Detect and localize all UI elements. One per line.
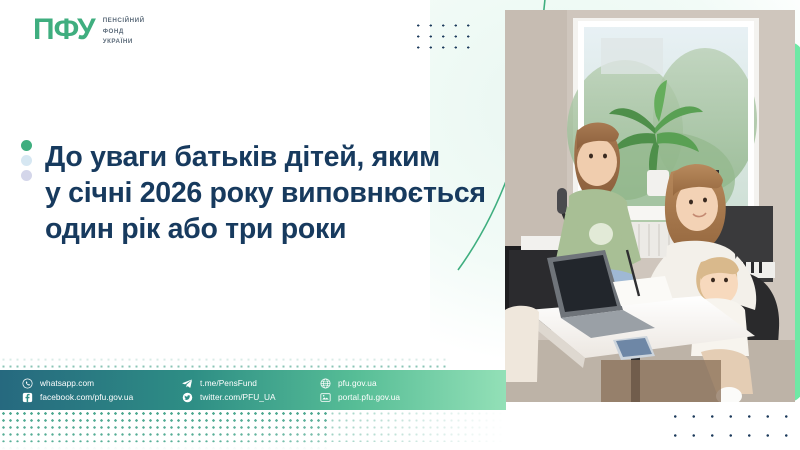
logo-tagline-line-2: ФОНД (103, 27, 145, 37)
footer-link-website[interactable]: pfu.gov.ua (320, 378, 440, 389)
halftone-texture-top (0, 356, 450, 371)
photo-family-at-desk (505, 10, 795, 402)
poster-canvas: ПФУ ПЕНСІЙНИЙ ФОНД УКРАЇНИ До уваги бать… (0, 0, 800, 450)
logo-tagline: ПЕНСІЙНИЙ ФОНД УКРАЇНИ (103, 14, 145, 47)
footer-link-label: pfu.gov.ua (338, 378, 377, 388)
accent-dot-blue (21, 155, 32, 166)
twitter-icon (182, 392, 193, 403)
footer-link-label: whatsapp.com (40, 378, 94, 388)
footer-link-label: twitter.com/PFU_UA (200, 392, 276, 402)
footer-link-label: facebook.com/pfu.gov.ua (40, 392, 133, 402)
telegram-icon (182, 378, 193, 389)
footer-link-label: t.me/PensFund (200, 378, 257, 388)
footer-column-2: t.me/PensFund twitter.com/PFU_UA (182, 378, 312, 403)
pfu-logo[interactable]: ПФУ ПЕНСІЙНИЙ ФОНД УКРАЇНИ (33, 14, 145, 47)
headline-accent-dots (21, 140, 32, 181)
footer-link-twitter[interactable]: twitter.com/PFU_UA (182, 392, 312, 403)
headline-line-1: До уваги батьків дітей, яким (45, 140, 495, 176)
footer-link-portal[interactable]: portal.pfu.gov.ua (320, 392, 440, 403)
accent-dot-green (21, 140, 32, 151)
footer-link-whatsapp[interactable]: whatsapp.com (22, 378, 172, 389)
logo-mark: ПФУ (33, 15, 95, 45)
headline: До уваги батьків дітей, яким у січні 202… (45, 140, 495, 248)
globe-icon (320, 378, 331, 389)
footer-link-telegram[interactable]: t.me/PensFund (182, 378, 312, 389)
footer-link-label: portal.pfu.gov.ua (338, 392, 400, 402)
logo-tagline-line-1: ПЕНСІЙНИЙ (103, 16, 145, 26)
dot-grid-top (412, 20, 472, 50)
whatsapp-icon (22, 378, 33, 389)
headline-line-2: у січні 2026 року виповнюється (45, 176, 495, 212)
facebook-icon (22, 392, 33, 403)
footer-column-3: pfu.gov.ua portal.pfu.gov.ua (320, 378, 440, 403)
footer-column-1: whatsapp.com facebook.com/pfu.gov.ua (22, 378, 172, 403)
headline-line-3: один рік або три роки (45, 212, 495, 248)
logo-tagline-line-3: УКРАЇНИ (103, 37, 145, 47)
footer-contact-bar: whatsapp.com facebook.com/pfu.gov.ua t.m… (0, 370, 506, 410)
accent-dot-lavender (21, 170, 32, 181)
photo-illustration (505, 10, 795, 402)
halftone-texture-bottom-wide (0, 410, 506, 442)
footer-link-facebook[interactable]: facebook.com/pfu.gov.ua (22, 392, 172, 403)
portal-icon (320, 392, 331, 403)
